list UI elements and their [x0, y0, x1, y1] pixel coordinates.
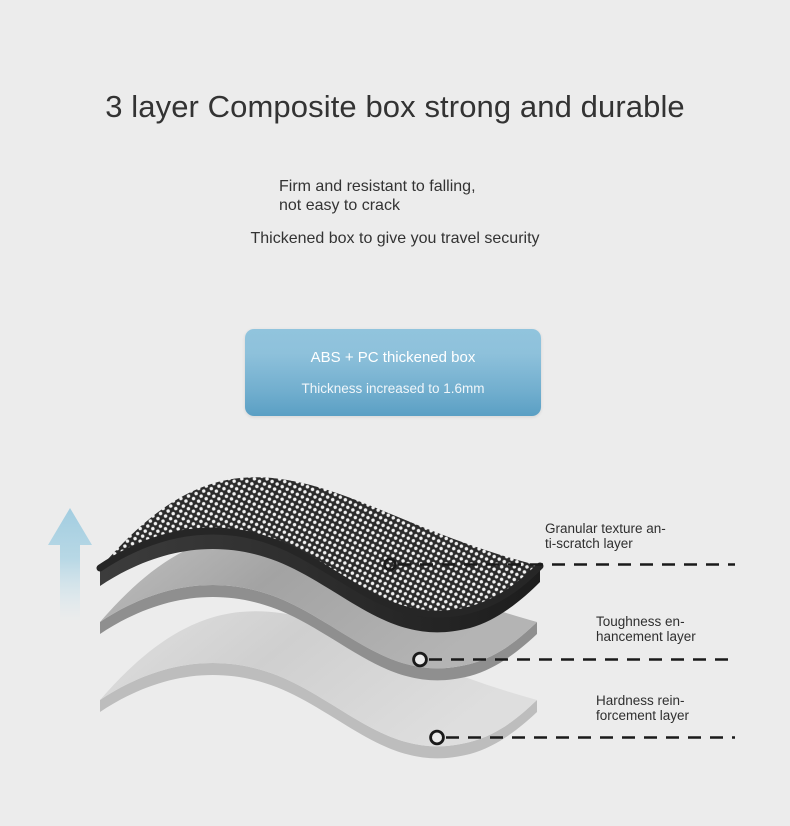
layer-label-toughness-line2: hancement layer [596, 629, 696, 644]
material-callout-box: ABS + PC thickened box Thickness increas… [245, 329, 541, 416]
layer-label-granular-line1: Granular texture an- [545, 521, 666, 536]
material-callout-subtitle: Thickness increased to 1.6mm [301, 381, 484, 397]
layer-label-granular-line2: ti-scratch layer [545, 536, 666, 551]
layer-label-toughness-line1: Toughness en- [596, 614, 685, 629]
subhead-firm-line2: not easy to crack [279, 196, 476, 215]
subhead-firm-line1: Firm and resistant to falling, [279, 178, 476, 195]
material-callout-title: ABS + PC thickened box [311, 349, 476, 367]
layer-label-hardness-line1: Hardness rein- [596, 693, 685, 708]
leader-line-granular [385, 559, 735, 570]
leader-line-hardness [431, 731, 735, 744]
layer-shape-toughness [100, 533, 537, 680]
subhead-firm: Firm and resistant to falling, not easy … [279, 177, 476, 215]
upward-growth-arrow-icon [48, 508, 92, 620]
leader-line-toughness [414, 653, 735, 666]
subhead-thickened: Thickened box to give you travel securit… [0, 229, 790, 248]
layer-label-granular: Granular texture an- ti-scratch layer [545, 521, 666, 551]
layer-shape-granular [100, 477, 540, 632]
layer-label-hardness: Hardness rein- forcement layer [596, 693, 689, 723]
layer-label-toughness: Toughness en- hancement layer [596, 614, 696, 644]
layer-shape-hardness [100, 611, 537, 758]
layer-label-hardness-line2: forcement layer [596, 708, 689, 723]
page-title: 3 layer Composite box strong and durable [0, 88, 790, 127]
product-feature-page: 3 layer Composite box strong and durable… [0, 0, 790, 826]
